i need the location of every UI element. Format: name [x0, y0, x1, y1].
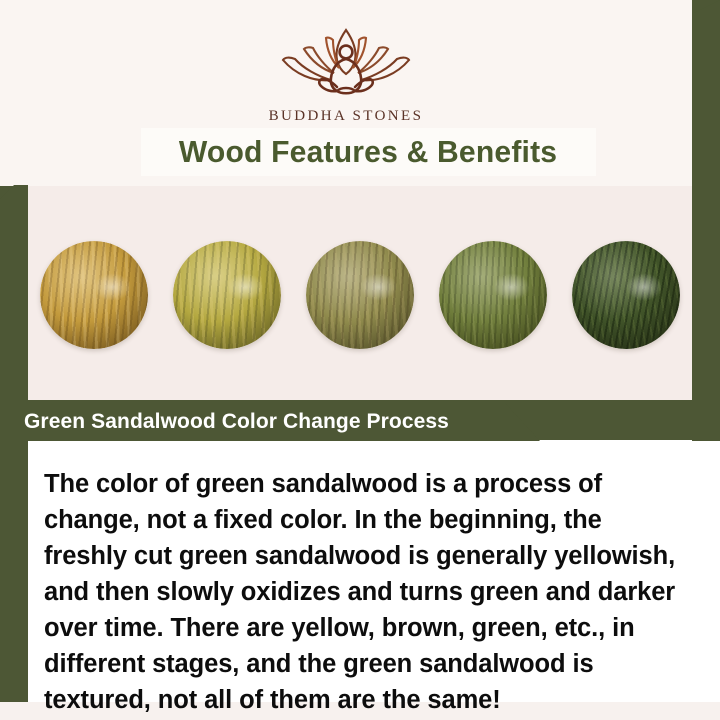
- bead-shading-4: [439, 241, 547, 349]
- left-green-frame-bar: [0, 185, 28, 702]
- top-right-green-corner: [692, 0, 720, 14]
- brand-logo: BUDDHA STONES: [0, 22, 692, 125]
- page-title-band: Wood Features & Benefits: [141, 128, 596, 176]
- bead-shading-2: [173, 241, 281, 349]
- bead-shading-1: [40, 241, 148, 349]
- bead-shading-5: [572, 241, 680, 349]
- right-green-frame-bar: [692, 13, 720, 441]
- brand-name: BUDDHA STONES: [269, 108, 424, 125]
- body-paragraph: The color of green sandalwood is a proce…: [44, 466, 684, 718]
- bead-stage-4: [439, 241, 547, 349]
- bead-stage-2: [173, 241, 281, 349]
- infographic-page: BUDDHA STONES Wood Features & Benefits: [0, 0, 720, 720]
- bead-stage-5: [572, 241, 680, 349]
- bead-shading-3: [306, 241, 414, 349]
- bead-highlight-4: [493, 273, 530, 301]
- lotus-meditation-icon: [271, 22, 421, 102]
- bead-stage-1: [40, 241, 148, 349]
- section-banner: Green Sandalwood Color Change Process: [0, 403, 540, 441]
- bead-stage-3: [306, 241, 414, 349]
- section-banner-label: Green Sandalwood Color Change Process: [24, 410, 449, 434]
- bead-color-stages-row: [28, 232, 692, 358]
- page-title: Wood Features & Benefits: [179, 134, 557, 170]
